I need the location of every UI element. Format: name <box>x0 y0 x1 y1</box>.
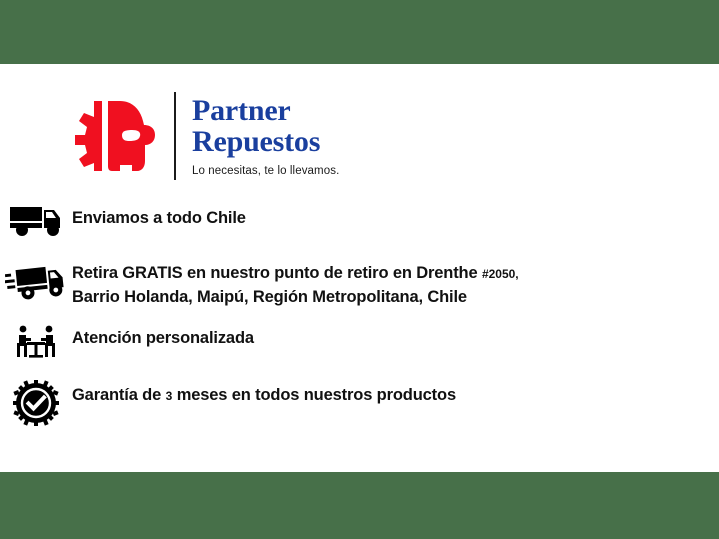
check-badge-icon <box>13 380 59 426</box>
warranty-text-part-2: meses en todos nuestros productos <box>172 386 456 404</box>
feature-item-warranty: Garantía de 3 meses en todos nuestros pr… <box>0 378 719 426</box>
pickup-text-line-2: Barrio Holanda, Maipú, Región Metropolit… <box>72 288 467 306</box>
promo-banner: Partner Repuestos Lo necesitas, te lo ll… <box>0 0 719 539</box>
fast-truck-icon <box>5 264 67 302</box>
banner-content: Partner Repuestos Lo necesitas, te lo ll… <box>0 64 719 472</box>
brand-name-line-2: Repuestos <box>192 126 339 157</box>
people-at-table-icon <box>14 324 58 362</box>
top-green-band <box>0 0 719 64</box>
bottom-green-band <box>0 472 719 539</box>
feature-icon-wrap <box>0 202 72 238</box>
pickup-address-number: #2050, <box>482 267 519 281</box>
feature-list: Enviamos a todo Chile <box>0 202 719 440</box>
feature-icon-wrap <box>0 322 72 362</box>
feature-label-warranty: Garantía de 3 meses en todos nuestros pr… <box>72 378 719 408</box>
logo-divider <box>174 92 176 180</box>
brand-name-line-1: Partner <box>192 95 339 126</box>
feature-item-shipping: Enviamos a todo Chile <box>0 202 719 246</box>
feature-icon-wrap <box>0 378 72 426</box>
warranty-text-part-1: Garantía de <box>72 386 166 404</box>
gear-car-icon <box>58 95 162 177</box>
feature-label-support: Atención personalizada <box>72 322 719 350</box>
feature-item-pickup: Retira GRATIS en nuestro punto de retiro… <box>0 262 719 309</box>
delivery-truck-icon <box>8 204 64 238</box>
feature-label-shipping: Enviamos a todo Chile <box>72 202 719 230</box>
brand-tagline: Lo necesitas, te lo llevamos. <box>192 165 339 177</box>
feature-item-support: Atención personalizada <box>0 322 719 366</box>
pickup-text-line-1: Retira GRATIS en nuestro punto de retiro… <box>72 264 482 282</box>
feature-icon-wrap <box>0 262 72 302</box>
brand-logo: Partner Repuestos Lo necesitas, te lo ll… <box>58 92 339 180</box>
feature-label-pickup: Retira GRATIS en nuestro punto de retiro… <box>72 262 719 309</box>
brand-text: Partner Repuestos Lo necesitas, te lo ll… <box>192 95 339 177</box>
